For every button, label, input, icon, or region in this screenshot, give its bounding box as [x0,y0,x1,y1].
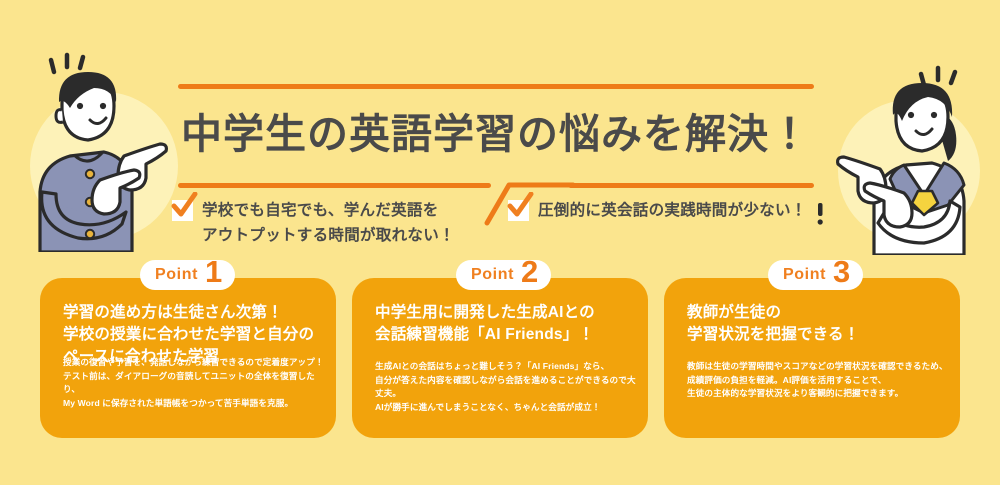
female-student-illustration [812,55,992,255]
point-badge-3: Point 3 [768,260,863,290]
promo-banner: 中学生の英語学習の悩みを解決！ 学校でも自宅でも、学んだ英語を アウトプットする… [0,0,1000,485]
point-badge-3-number: 3 [833,262,850,282]
point-badge-2-number: 2 [521,262,538,282]
checklist-item-2-text: 圧倒的に英会話の実践時間が少ない！ [538,198,807,223]
checkbox-checked-icon [172,200,193,221]
point-badge-1: Point 1 [140,260,235,290]
point-badge-2-word: Point [471,266,514,284]
checklist-item-1: 学校でも自宅でも、学んだ英語を アウトプットする時間が取れない！ [172,198,455,248]
point-card-3-heading: 教師が生徒の 学習状況を把握できる！ [687,302,943,346]
title-rule-bottom-right [568,183,814,188]
point-card-2: Point 2 中学生用に開発した生成AIとの 会話練習機能「AI Friend… [352,278,648,438]
checklist-item-1-text: 学校でも自宅でも、学んだ英語を アウトプットする時間が取れない！ [202,198,455,248]
point-card-2-heading: 中学生用に開発した生成AIとの 会話練習機能「AI Friends」！ [375,302,631,346]
page-title: 中学生の英語学習の悩みを解決！ [178,98,814,170]
title-rule-top [178,84,814,89]
title-block: 中学生の英語学習の悩みを解決！ [178,84,814,188]
checklist-item-2: 圧倒的に英会話の実践時間が少ない！ [508,198,807,223]
title-rule-bottom-left [178,183,491,188]
checkbox-checked-icon [508,200,529,221]
point-card-2-body: 生成AIとの会話はちょっと難しそう？「AI Friends」なら、 自分が答えた… [375,360,637,414]
point-card-3: Point 3 教師が生徒の 学習状況を把握できる！ 教師は生徒の学習時間やスコ… [664,278,960,438]
point-badge-3-word: Point [783,266,826,284]
point-badge-1-number: 1 [205,262,222,282]
point-card-3-body: 教師は生徒の学習時間やスコアなどの学習状況を確認できるため、 成績評価の負担を軽… [687,360,949,401]
point-card-1-body: 授業の復習や予習を、発話しながら練習できるので定着度アップ！ テスト前は、ダイア… [63,356,325,410]
point-badge-1-word: Point [155,266,198,284]
point-card-1: Point 1 学習の進め方は生徒さん次第！ 学校の授業に合わせた学習と自分の … [40,278,336,438]
male-student-illustration [18,52,198,252]
point-badge-2: Point 2 [456,260,551,290]
